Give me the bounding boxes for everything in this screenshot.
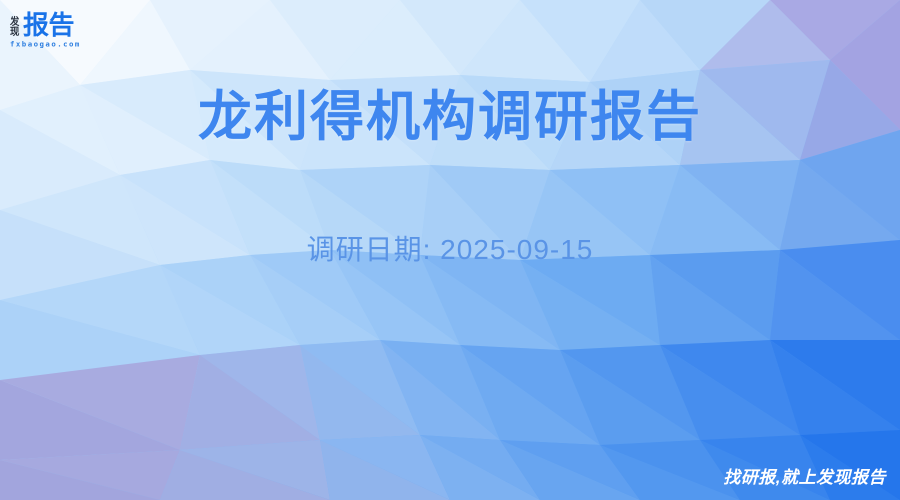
logo-stacked-characters: 发 现	[10, 18, 20, 38]
brand-logo[interactable]: 发 现 报告 fxbaogao.com	[10, 10, 110, 52]
logo-wordmark: 报告	[23, 12, 74, 38]
low-poly-background	[0, 0, 900, 500]
logo-char-xian: 现	[10, 28, 19, 38]
report-cover-slide: 发 现 报告 fxbaogao.com 龙利得机构调研报告 调研日期: 2025…	[0, 0, 900, 500]
logo-domain: fxbaogao.com	[10, 40, 102, 48]
footer-tagline: 找研报,就上发现报告	[723, 463, 886, 488]
logo-wordmark-row: 发 现 报告	[10, 10, 110, 38]
